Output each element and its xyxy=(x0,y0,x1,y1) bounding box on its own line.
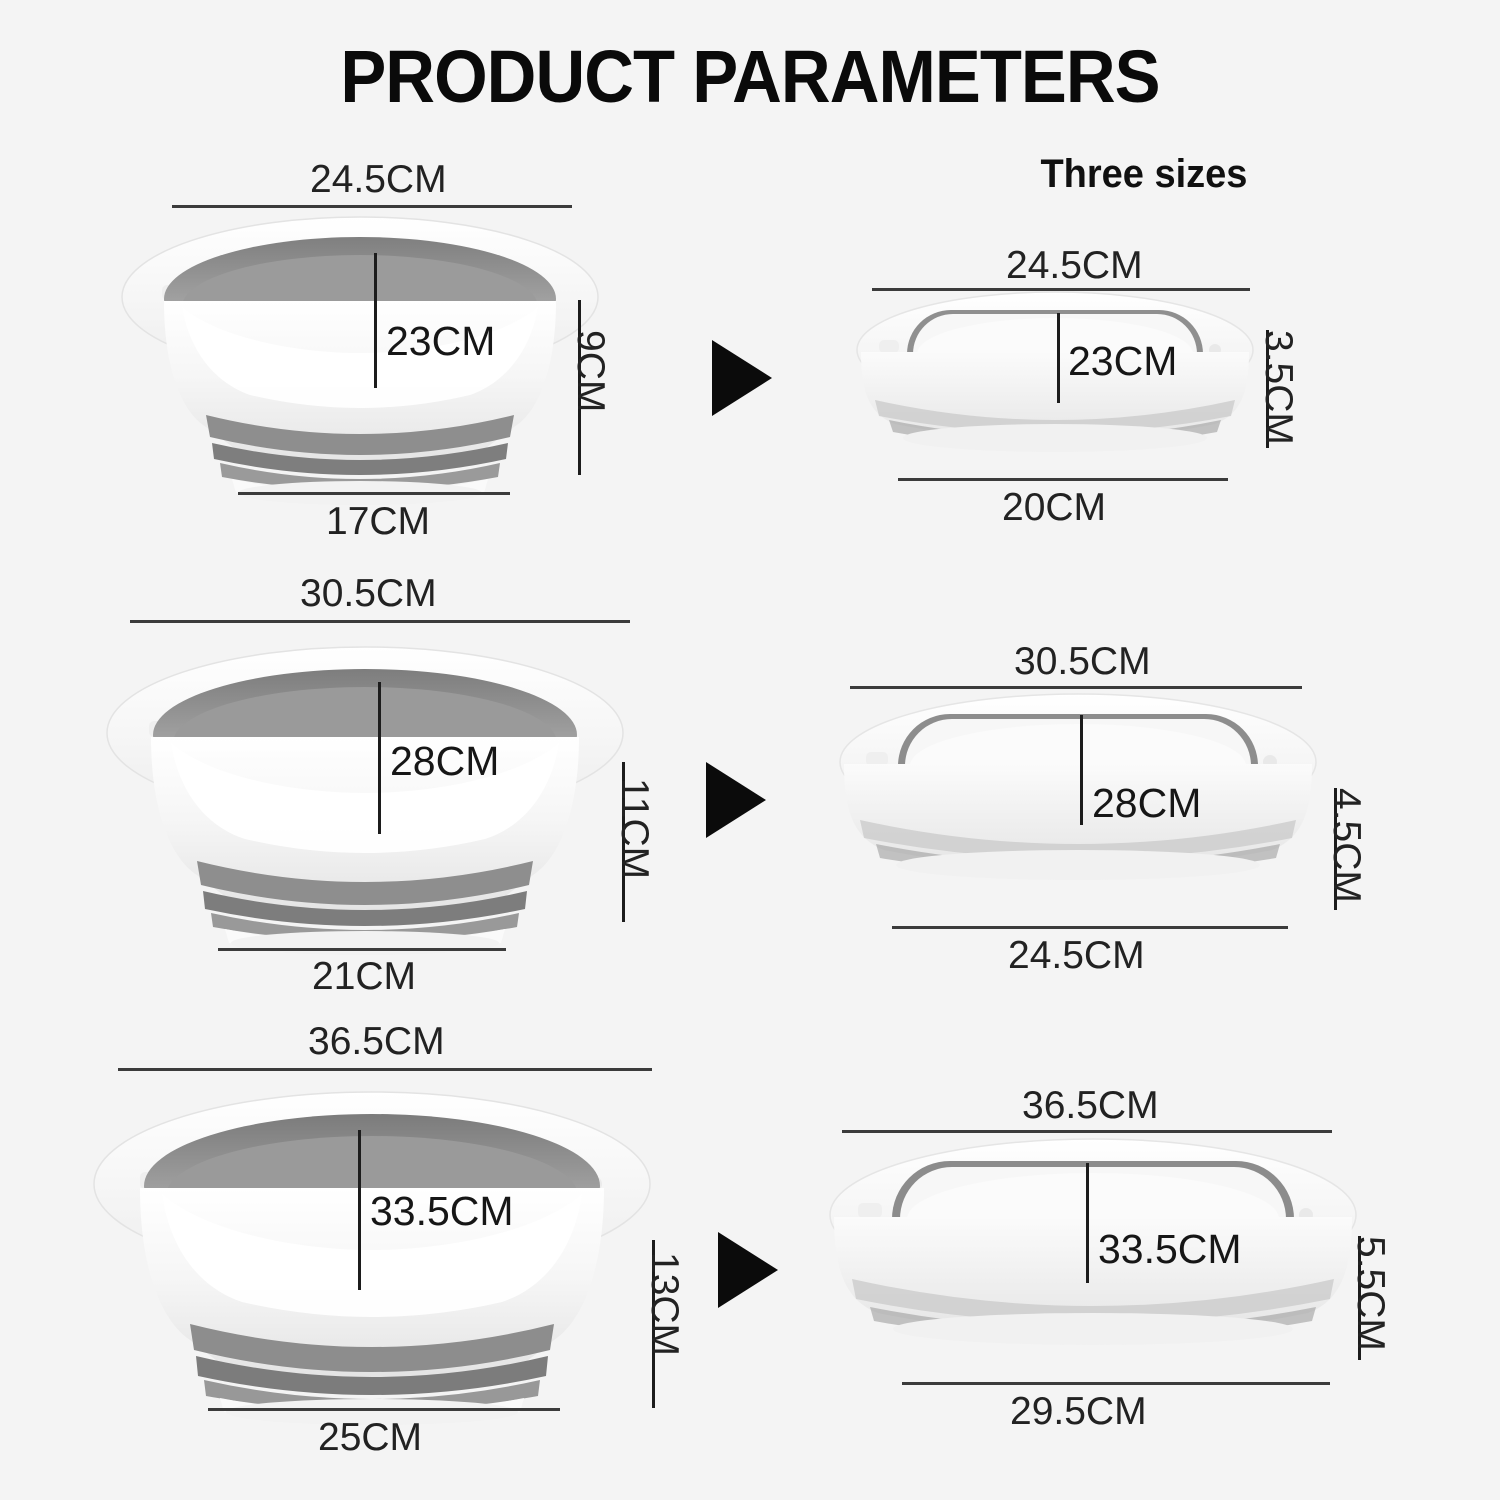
dimline-small-bottom-width xyxy=(238,492,510,495)
dimline-medium-collapsed-bottom-width xyxy=(892,926,1288,929)
label-medium-collapsed-top-width: 30.5CM xyxy=(1014,640,1151,684)
arrow-right-icon-large xyxy=(718,1232,778,1308)
dimline-large-collapsed-inner xyxy=(1086,1163,1089,1283)
label-large-inner-length: 33.5CM xyxy=(370,1188,514,1235)
basin-collapsed-large xyxy=(828,1135,1358,1375)
label-small-collapsed-bottom-width: 20CM xyxy=(1002,486,1106,530)
label-small-inner-length: 23CM xyxy=(386,318,495,365)
basin-expanded-large xyxy=(92,1090,652,1430)
label-large-top-width: 36.5CM xyxy=(308,1020,445,1064)
label-large-collapsed-height: 5.5CM xyxy=(1348,1236,1392,1351)
label-small-top-width: 24.5CM xyxy=(310,158,447,202)
dimline-medium-top-width xyxy=(130,620,630,623)
label-large-collapsed-inner-length: 33.5CM xyxy=(1098,1226,1242,1273)
dimline-small-collapsed-inner xyxy=(1057,313,1060,403)
dimline-large-collapsed-top-width xyxy=(842,1130,1332,1133)
label-small-collapsed-top-width: 24.5CM xyxy=(1006,244,1143,288)
label-large-bottom-width: 25CM xyxy=(318,1416,422,1460)
basin-collapsed-small xyxy=(855,288,1255,473)
dimline-small-top-width xyxy=(172,205,572,208)
basin-expanded-medium xyxy=(105,645,625,955)
arrow-right-icon-small xyxy=(712,340,772,416)
product-parameters-infographic: PRODUCT PARAMETERS Three sizes xyxy=(0,0,1500,1500)
basin-collapsed-medium xyxy=(838,690,1318,905)
label-medium-height: 11CM xyxy=(612,778,656,879)
label-small-collapsed-inner-length: 23CM xyxy=(1068,338,1177,385)
label-medium-collapsed-bottom-width: 24.5CM xyxy=(1008,934,1145,978)
dimline-medium-collapsed-top-width xyxy=(850,686,1302,689)
dimline-medium-bottom-width xyxy=(218,948,506,951)
dimline-large-top-width xyxy=(118,1068,652,1071)
basin-expanded-small xyxy=(120,215,600,505)
dimline-large-bottom-width xyxy=(208,1408,560,1411)
label-large-collapsed-bottom-width: 29.5CM xyxy=(1010,1390,1147,1434)
dimline-small-collapsed-bottom-width xyxy=(898,478,1228,481)
label-small-height: 9CM xyxy=(568,330,612,412)
label-medium-top-width: 30.5CM xyxy=(300,572,437,616)
label-medium-collapsed-height: 4.5CM xyxy=(1324,788,1368,903)
dimline-medium-collapsed-inner xyxy=(1080,715,1083,825)
label-small-collapsed-height: 3.5CM xyxy=(1256,330,1300,445)
label-large-collapsed-top-width: 36.5CM xyxy=(1022,1084,1159,1128)
arrow-right-icon-medium xyxy=(706,762,766,838)
dimline-large-collapsed-bottom-width xyxy=(902,1382,1330,1385)
label-medium-inner-length: 28CM xyxy=(390,738,499,785)
dimline-small-collapsed-top-width xyxy=(872,288,1250,291)
dimline-medium-inner xyxy=(378,682,381,834)
page-title: PRODUCT PARAMETERS xyxy=(53,34,1448,119)
label-medium-collapsed-inner-length: 28CM xyxy=(1092,780,1201,827)
label-large-height: 13CM xyxy=(642,1252,686,1356)
dimline-large-inner xyxy=(358,1130,361,1290)
label-medium-bottom-width: 21CM xyxy=(312,955,416,999)
label-small-bottom-width: 17CM xyxy=(326,500,430,544)
dimline-small-inner xyxy=(374,253,377,388)
three-sizes-heading: Three sizes xyxy=(1040,152,1247,197)
